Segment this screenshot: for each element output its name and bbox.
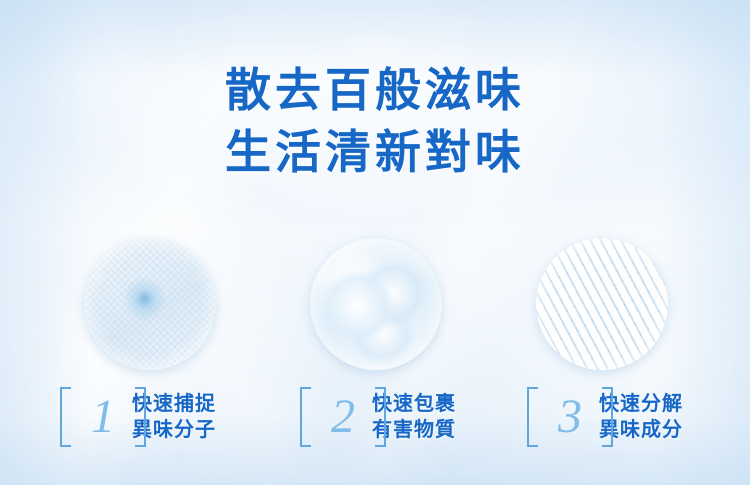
- feature-image-3: [536, 238, 668, 370]
- water-bubbles-icon: [310, 238, 442, 370]
- step-bracket-2: 2: [300, 387, 386, 447]
- droplet-burst-icon: [84, 238, 216, 370]
- fabric-weave-icon: [536, 238, 668, 370]
- step-number-1: 1: [60, 387, 146, 447]
- step-number-2: 2: [300, 387, 386, 447]
- step-item-3: 3 快速分解 異味成分: [527, 386, 683, 448]
- circle-frame-2: [310, 238, 442, 370]
- headline-line-1: 散去百般滋味: [0, 62, 750, 118]
- circle-frame-3: [536, 238, 668, 370]
- feature-image-1: [84, 238, 216, 370]
- page-title: 散去百般滋味 生活清新對味: [0, 62, 750, 180]
- feature-image-row: [0, 238, 750, 368]
- headline-line-2: 生活清新對味: [0, 124, 750, 180]
- step-item-1: 1 快速捕捉 異味分子: [60, 386, 216, 448]
- step-number-3: 3: [527, 387, 613, 447]
- step-bracket-3: 3: [527, 387, 613, 447]
- step-item-2: 2 快速包裹 有害物質: [300, 386, 456, 448]
- circle-frame-1: [84, 238, 216, 370]
- feature-image-2: [310, 238, 442, 370]
- promo-poster: 散去百般滋味 生活清新對味 1 快速: [0, 0, 750, 485]
- step-list: 1 快速捕捉 異味分子 2 快速包裹 有害物質 3: [0, 386, 750, 456]
- step-bracket-1: 1: [60, 387, 146, 447]
